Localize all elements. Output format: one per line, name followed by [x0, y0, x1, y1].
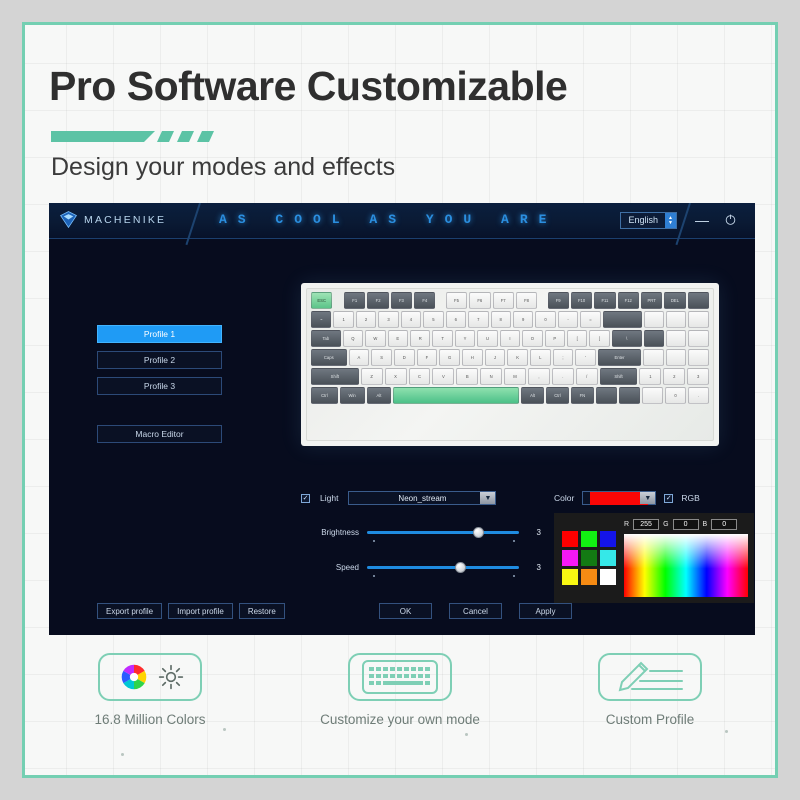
- language-select[interactable]: English ▲▼: [620, 212, 677, 229]
- keyboard-key[interactable]: DEL: [664, 292, 685, 309]
- keyboard-key[interactable]: 8: [491, 311, 511, 328]
- profile-button-2[interactable]: Profile 2: [97, 351, 222, 369]
- keyboard-key[interactable]: T: [432, 330, 452, 347]
- light-label: Light: [320, 493, 338, 503]
- brightness-slider[interactable]: [367, 531, 519, 534]
- macro-editor-button[interactable]: Macro Editor: [97, 425, 222, 443]
- keyboard-key[interactable]: M: [504, 368, 526, 385]
- keyboard-key[interactable]: 6: [446, 311, 466, 328]
- window-titlebar: MACHENIKE AS COOL AS YOU ARE English ▲▼ …: [49, 203, 755, 239]
- color-gradient-picker[interactable]: [624, 534, 748, 597]
- keyboard-key[interactable]: ;: [553, 349, 574, 366]
- keyboard-key[interactable]: F3: [391, 292, 412, 309]
- keyboard-key[interactable]: N: [480, 368, 502, 385]
- keyboard-key[interactable]: .: [552, 368, 574, 385]
- keyboard-key[interactable]: X: [385, 368, 407, 385]
- speed-value: 3: [519, 563, 541, 572]
- color-swatch[interactable]: [562, 550, 578, 566]
- keyboard-key[interactable]: 0: [665, 387, 686, 404]
- keyboard-key[interactable]: R: [410, 330, 430, 347]
- keyboard-key[interactable]: [666, 330, 686, 347]
- brightness-value: 3: [519, 528, 541, 537]
- keyboard-key[interactable]: V: [432, 368, 454, 385]
- keyboard-key[interactable]: C: [409, 368, 431, 385]
- color-swatch[interactable]: [581, 531, 597, 547]
- keyboard-key[interactable]: \: [612, 330, 642, 347]
- keyboard-row: ESCF1F2F3F4F5F6F7F8F9F10F11F12PRTDEL: [311, 292, 709, 309]
- keyboard-key[interactable]: [642, 387, 663, 404]
- color-swatch[interactable]: [600, 550, 616, 566]
- keyboard-row: TabQWERTYUIOP[]\: [311, 330, 709, 347]
- speed-slider[interactable]: [367, 566, 519, 569]
- brightness-sun-icon: [158, 664, 184, 690]
- keyboard-key[interactable]: I: [500, 330, 520, 347]
- keyboard-key[interactable]: F2: [367, 292, 388, 309]
- keyboard-key[interactable]: 1: [639, 368, 661, 385]
- color-swatch[interactable]: [581, 550, 597, 566]
- keyboard-key[interactable]: .: [688, 387, 709, 404]
- color-settings-row: Color ▼ ✓ RGB: [554, 491, 700, 505]
- brightness-label: Brightness: [301, 528, 359, 537]
- keyboard-key[interactable]: 0: [535, 311, 555, 328]
- keyboard-key[interactable]: Ctrl: [311, 387, 338, 404]
- keyboard-key[interactable]: [596, 387, 617, 404]
- keyboard-key[interactable]: B: [456, 368, 478, 385]
- keyboard-key[interactable]: F: [417, 349, 438, 366]
- language-spinner-icon[interactable]: ▲▼: [665, 213, 676, 228]
- keyboard-key[interactable]: F6: [469, 292, 490, 309]
- keyboard-key[interactable]: Alt: [521, 387, 544, 404]
- keyboard-key[interactable]: F10: [571, 292, 592, 309]
- brand-name: MACHENIKE: [84, 214, 166, 226]
- light-checkbox[interactable]: ✓: [301, 494, 310, 503]
- color-picker-panel: R 255 G 0 B 0: [554, 513, 754, 603]
- keyboard-key[interactable]: 2: [663, 368, 685, 385]
- keyboard-key[interactable]: Y: [455, 330, 475, 347]
- keyboard-key[interactable]: J: [485, 349, 506, 366]
- minimize-button[interactable]: —: [695, 213, 709, 228]
- keyboard-key[interactable]: [619, 387, 640, 404]
- corner-bracket-bottom-left: [49, 612, 88, 635]
- keyboard-key[interactable]: 4: [401, 311, 421, 328]
- keyboard-key[interactable]: K: [507, 349, 528, 366]
- keyboard-preview[interactable]: ESCF1F2F3F4F5F6F7F8F9F10F11F12PRTDEL~123…: [301, 283, 719, 446]
- chevron-down-icon: ▼: [640, 492, 655, 504]
- r-input[interactable]: 255: [633, 519, 659, 530]
- keyboard-key[interactable]: Shift: [600, 368, 638, 385]
- color-label: Color: [554, 493, 574, 503]
- g-input[interactable]: 0: [673, 519, 699, 530]
- keyboard-key[interactable]: Caps: [311, 349, 347, 366]
- keyboard-row: ~1234567890-=: [311, 311, 709, 328]
- keyboard-key[interactable]: Enter: [598, 349, 641, 366]
- keyboard-key[interactable]: [666, 311, 686, 328]
- keyboard-key[interactable]: S: [371, 349, 392, 366]
- keyboard-key[interactable]: Q: [343, 330, 363, 347]
- color-swatch-grid[interactable]: [562, 519, 616, 597]
- keyboard-key[interactable]: 5: [423, 311, 443, 328]
- keyboard-key[interactable]: A: [349, 349, 370, 366]
- r-label: R: [624, 521, 629, 528]
- keyboard-key[interactable]: P: [545, 330, 565, 347]
- keyboard-key[interactable]: D: [394, 349, 415, 366]
- keyboard-key[interactable]: 7: [468, 311, 488, 328]
- keyboard-key[interactable]: =: [580, 311, 600, 328]
- keyboard-key[interactable]: ~: [311, 311, 331, 328]
- keyboard-key[interactable]: F11: [594, 292, 615, 309]
- keyboard-key[interactable]: F12: [618, 292, 639, 309]
- keyboard-key[interactable]: [666, 349, 687, 366]
- feature-profile: Custom Profile: [525, 653, 775, 729]
- apply-button[interactable]: Apply: [519, 603, 572, 619]
- color-swatch[interactable]: [600, 531, 616, 547]
- keyboard-row: ShiftZXCVBNM,./Shift123: [311, 368, 709, 385]
- effect-value: Neon_stream: [398, 494, 446, 503]
- color-swatch[interactable]: [600, 569, 616, 585]
- keyboard-row: CtrlWinAltAltCtrlFN0.: [311, 387, 709, 404]
- keyboard-key[interactable]: FN: [571, 387, 594, 404]
- b-label: B: [703, 521, 708, 528]
- brightness-slider-row: Brightness 3: [301, 528, 541, 537]
- color-wheel-icon: [117, 660, 151, 694]
- keyboard-key[interactable]: G: [439, 349, 460, 366]
- color-select[interactable]: ▼: [582, 491, 656, 505]
- keyboard-key[interactable]: Z: [361, 368, 383, 385]
- keyboard-row: CapsASDFGHJKL;'Enter: [311, 349, 709, 366]
- feature-list: 16.8 Million Colors: [25, 653, 775, 729]
- rgb-label: RGB: [681, 493, 699, 503]
- pen-writing-icon: [610, 657, 690, 697]
- restore-button[interactable]: Restore: [239, 603, 285, 619]
- brand-logo: MACHENIKE: [59, 210, 166, 229]
- feature-icon-box: [98, 653, 202, 701]
- keyboard-key[interactable]: E: [388, 330, 408, 347]
- keyboard-key[interactable]: ESC: [311, 292, 332, 309]
- keyboard-key[interactable]: F5: [446, 292, 467, 309]
- keyboard-key[interactable]: [644, 330, 664, 347]
- ok-button[interactable]: OK: [379, 603, 432, 619]
- feature-customize: Customize your own mode: [275, 653, 525, 729]
- machenike-diamond-icon: [59, 210, 78, 229]
- keyboard-key[interactable]: [688, 349, 709, 366]
- keyboard-key[interactable]: [643, 349, 664, 366]
- window-tagline: AS COOL AS YOU ARE: [219, 212, 557, 227]
- keyboard-key[interactable]: [: [567, 330, 587, 347]
- keyboard-key[interactable]: Shift: [311, 368, 359, 385]
- light-settings-row: ✓ Light Neon_stream ▼: [301, 491, 496, 505]
- keyboard-key[interactable]: [688, 311, 708, 328]
- keyboard-key[interactable]: F8: [516, 292, 537, 309]
- keyboard-key[interactable]: 3: [687, 368, 709, 385]
- speed-label: Speed: [301, 563, 359, 572]
- keyboard-key[interactable]: -: [558, 311, 578, 328]
- keyboard-key[interactable]: Alt: [367, 387, 392, 404]
- keyboard-key[interactable]: Tab: [311, 330, 341, 347]
- effect-select[interactable]: Neon_stream ▼: [348, 491, 496, 505]
- export-profile-button[interactable]: Export profile: [97, 603, 162, 619]
- profile-button-3[interactable]: Profile 3: [97, 377, 222, 395]
- keyboard-key[interactable]: Ctrl: [546, 387, 569, 404]
- keyboard-key[interactable]: O: [522, 330, 542, 347]
- keyboard-key[interactable]: 1: [333, 311, 353, 328]
- keyboard-key[interactable]: L: [530, 349, 551, 366]
- feature-label: 16.8 Million Colors: [94, 711, 205, 729]
- keyboard-key[interactable]: F4: [414, 292, 435, 309]
- keyboard-key[interactable]: 3: [378, 311, 398, 328]
- keyboard-key[interactable]: [688, 292, 709, 309]
- keyboard-key[interactable]: F1: [344, 292, 365, 309]
- b-input[interactable]: 0: [711, 519, 737, 530]
- cancel-button[interactable]: Cancel: [449, 603, 502, 619]
- feature-label: Customize your own mode: [320, 711, 480, 729]
- keyboard-icon: [362, 658, 438, 696]
- language-value: English: [621, 213, 665, 228]
- rgb-inputs: R 255 G 0 B 0: [624, 519, 748, 530]
- keyboard-key[interactable]: 9: [513, 311, 533, 328]
- page-subtitle: Design your modes and effects: [51, 153, 395, 182]
- slider-group: Brightness 3 Speed 3: [301, 528, 541, 598]
- keyboard-key[interactable]: F7: [493, 292, 514, 309]
- keyboard-key[interactable]: PRT: [641, 292, 662, 309]
- keyboard-key[interactable]: [688, 330, 708, 347]
- keyboard-key[interactable]: [393, 387, 519, 404]
- keyboard-key[interactable]: [644, 311, 664, 328]
- keyboard-key[interactable]: ]: [589, 330, 609, 347]
- poster-frame: Pro Software Customizable Design your mo…: [22, 22, 778, 778]
- footer-left-buttons: Export profile Import profile Restore: [97, 603, 285, 619]
- keyboard-key[interactable]: U: [477, 330, 497, 347]
- footer-right-buttons: OK Cancel Apply: [379, 603, 572, 619]
- speed-slider-row: Speed 3: [301, 563, 541, 572]
- keyboard-key[interactable]: /: [576, 368, 598, 385]
- speed-thumb[interactable]: [455, 562, 466, 573]
- g-label: G: [663, 521, 668, 528]
- color-swatch[interactable]: [581, 569, 597, 585]
- profile-button-1[interactable]: Profile 1: [97, 325, 222, 343]
- keyboard-key[interactable]: [603, 311, 642, 328]
- keyboard-key[interactable]: Win: [340, 387, 365, 404]
- feature-label: Custom Profile: [606, 711, 695, 729]
- profile-list: Profile 1 Profile 2 Profile 3 Macro Edit…: [97, 325, 222, 451]
- keyboard-key[interactable]: 2: [356, 311, 376, 328]
- keyboard-key[interactable]: W: [365, 330, 385, 347]
- chevron-down-icon: ▼: [480, 492, 495, 504]
- keyboard-key[interactable]: ': [575, 349, 596, 366]
- feature-icon-box: [598, 653, 702, 701]
- feature-colors: 16.8 Million Colors: [25, 653, 275, 729]
- feature-icon-box: [348, 653, 452, 701]
- import-profile-button[interactable]: Import profile: [168, 603, 233, 619]
- keyboard-key[interactable]: H: [462, 349, 483, 366]
- keyboard-key[interactable]: ,: [528, 368, 550, 385]
- machenike-software-window: MACHENIKE AS COOL AS YOU ARE English ▲▼ …: [49, 203, 755, 635]
- title-underline-decoration: [51, 131, 201, 143]
- keyboard-key[interactable]: F9: [548, 292, 569, 309]
- color-swatch[interactable]: [562, 531, 578, 547]
- brightness-thumb[interactable]: [473, 527, 484, 538]
- rgb-checkbox[interactable]: ✓: [664, 494, 673, 503]
- page-title: Pro Software Customizable: [49, 63, 567, 110]
- corner-bracket-top-right: [716, 203, 755, 226]
- color-swatch[interactable]: [562, 569, 578, 585]
